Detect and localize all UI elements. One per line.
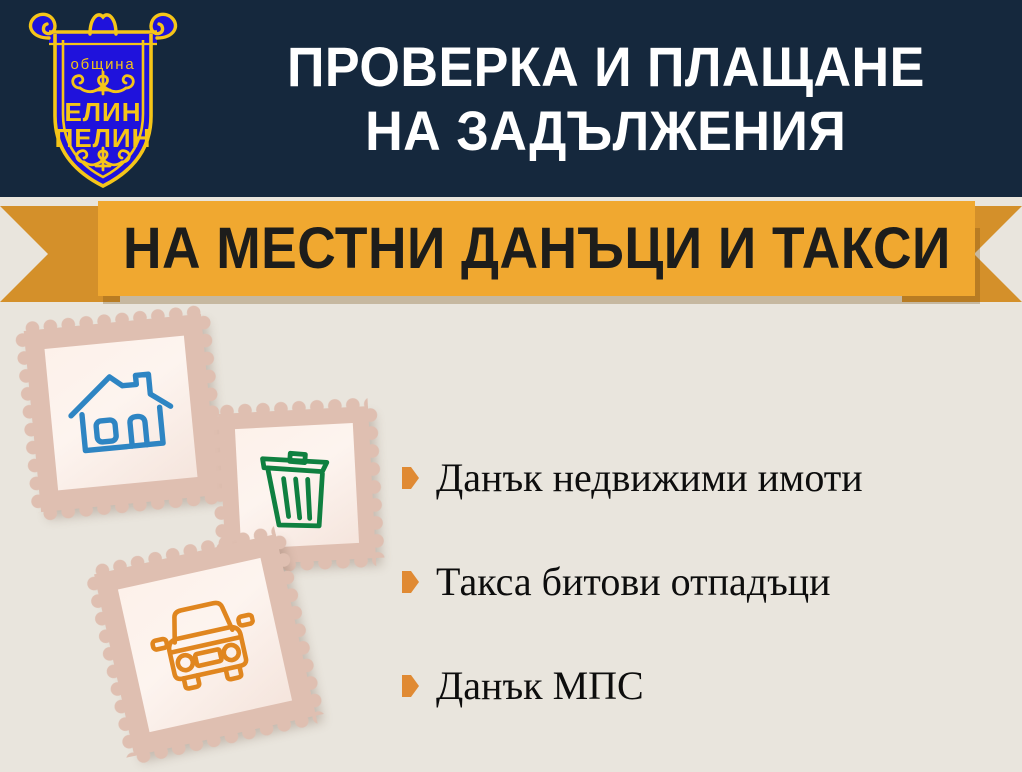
car-icon: [142, 588, 267, 701]
trash-bin-icon: [255, 438, 340, 534]
arrow-bullet-icon: [402, 467, 419, 489]
municipality-logo: община ЕЛИН ПЕЛИН: [22, 4, 184, 194]
page-title-line-2: НА ЗАДЪЛЖЕНИЯ: [365, 99, 846, 163]
page-title-line-1: ПРОВЕРКА И ПЛАЩАНЕ: [287, 35, 925, 99]
page-header: община ЕЛИН ПЕЛИН: [0, 0, 1022, 197]
stamp-edge-left: [15, 330, 46, 513]
arrow-bullet-icon: [402, 571, 419, 593]
stamp-paper: [118, 558, 292, 732]
list-item: Данък МПС: [402, 634, 1017, 738]
header-title-block: ПРОВЕРКА И ПЛАЩАНЕ НА ЗАДЪЛЖЕНИЯ: [190, 0, 1022, 197]
list-item: Такса битови отпадъци: [402, 530, 1017, 634]
list-item-label: Такса битови отпадъци: [436, 562, 831, 602]
tax-types-list: Данък недвижими имоти Такса битови отпад…: [402, 426, 1017, 738]
list-item-label: Данък МПС: [436, 666, 644, 706]
list-item: Данък недвижими имоти: [402, 426, 1017, 530]
ribbon-subtitle: НА МЕСТНИ ДАНЪЦИ И ТАКСИ: [123, 215, 951, 282]
house-icon: [63, 362, 179, 464]
ribbon-band: НА МЕСТНИ ДАНЪЦИ И ТАКСИ: [98, 201, 975, 296]
subtitle-ribbon: НА МЕСТНИ ДАНЪЦИ И ТАКСИ: [0, 197, 1022, 307]
logo-line-obshtina: община: [70, 56, 135, 73]
arrow-bullet-icon: [402, 675, 419, 697]
stamp-paper: [45, 336, 198, 491]
property-tax-stamp: [24, 314, 219, 512]
vehicle-tax-stamp: [94, 534, 316, 756]
list-item-label: Данък недвижими имоти: [436, 458, 863, 498]
stamp-edge-right: [363, 406, 385, 559]
